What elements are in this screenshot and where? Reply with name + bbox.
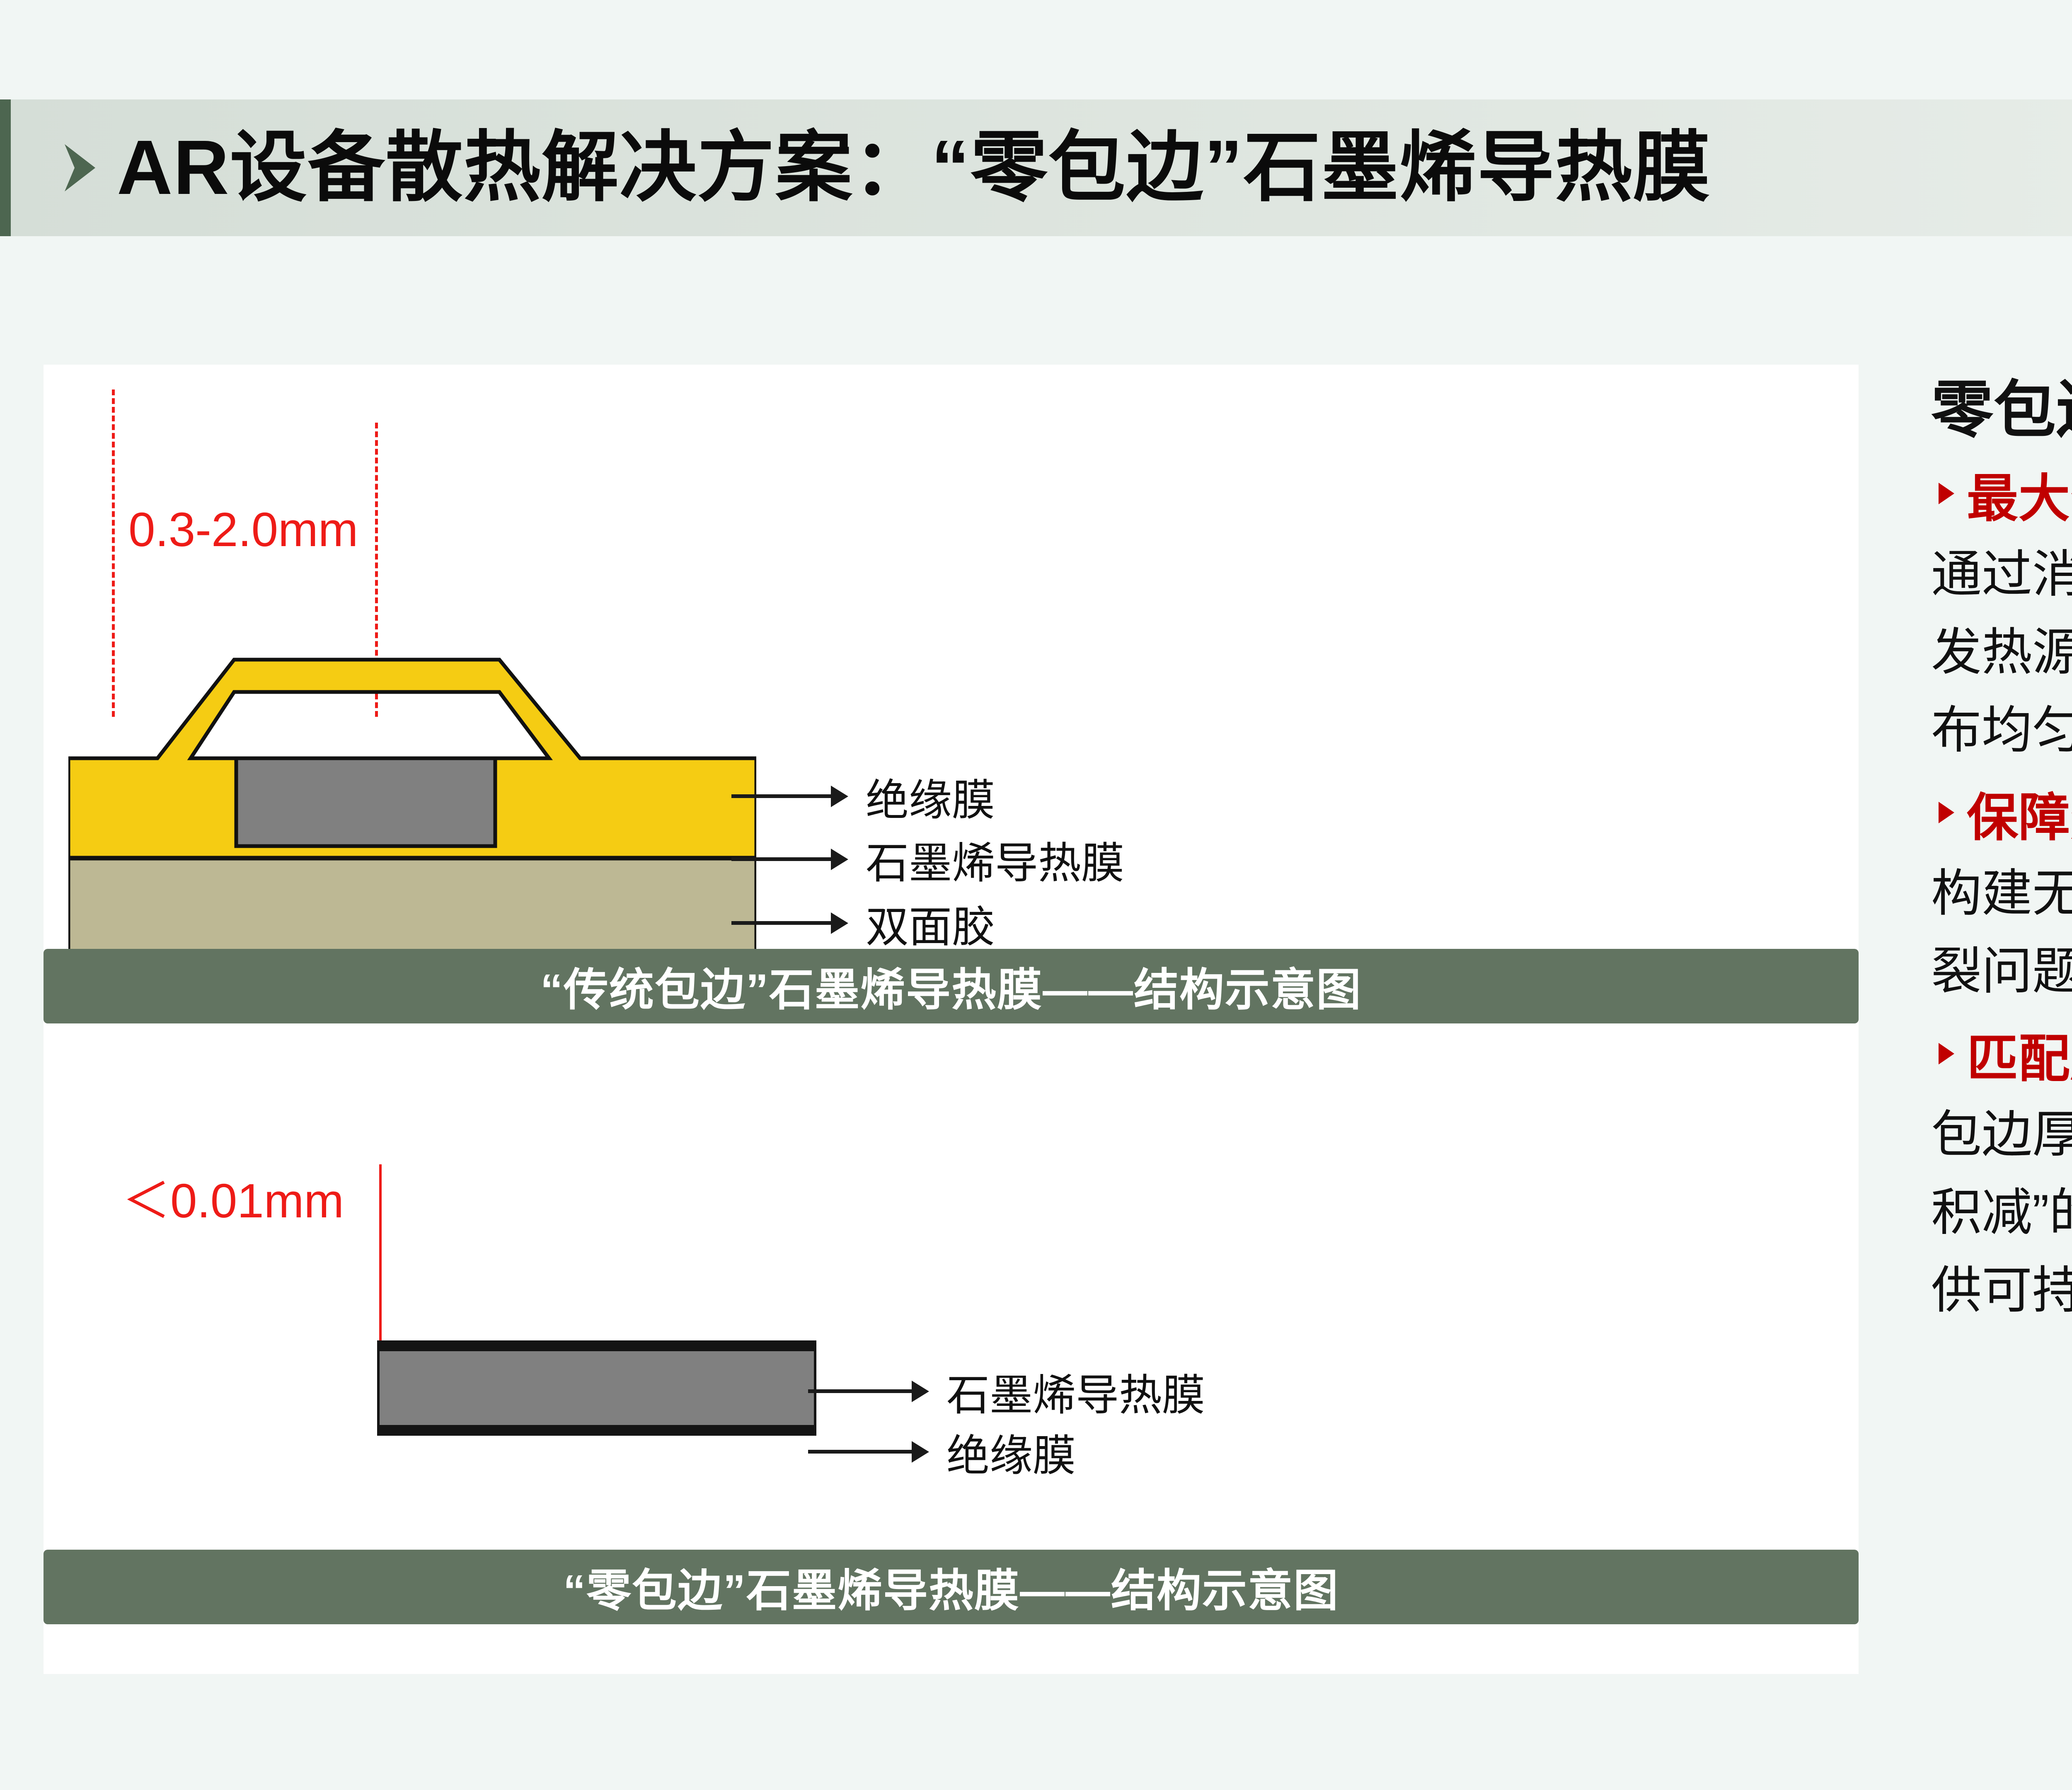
callout-adhesive: 双面胶 <box>731 892 995 954</box>
bullet-title: 匹配超薄化设计 <box>1967 1029 2072 1089</box>
callout-label: 石墨烯导热膜 <box>866 828 1124 890</box>
zero-edge-caption: “零包边”石墨烯导热膜——结构示意图 <box>44 1550 1859 1624</box>
callout-insulation-film: 绝缘膜 <box>808 1420 1076 1483</box>
diagram-card: 0.3-2.0mm 绝缘膜 石墨烯导热膜 双面胶 “传统包边”石墨烯导热膜——结… <box>44 365 1859 1674</box>
callout-insulation-film: 绝缘膜 <box>731 765 995 827</box>
callout-graphene-film: 石墨烯导热膜 <box>731 828 1124 890</box>
chevron-right-icon <box>62 143 98 193</box>
triangle-bullet-icon <box>1939 483 1954 504</box>
zero-edge-dimension-label: ＜0.01mm <box>122 1177 344 1225</box>
callout-graphene-film: 石墨烯导热膜 <box>808 1360 1205 1422</box>
innovation-panel: 零包边技术的革新性突破： 最大化热界面面积 通过消除包边对边缘空间的侵占，使石墨… <box>1931 375 2072 1348</box>
triangle-bullet-icon <box>1939 802 1954 823</box>
callout-label: 绝缘膜 <box>866 765 995 827</box>
bullet-body-1: 通过消除包边对边缘空间的侵占，使石墨烯膜完整覆盖发热源，热传导面积提升30%-5… <box>1931 536 2072 769</box>
panel-heading: 零包边技术的革新性突破： <box>1931 375 2072 445</box>
callout-label: 绝缘膜 <box>946 1420 1076 1483</box>
page-title: AR设备散热解决方案：“零包边”石墨烯导热膜 <box>117 129 1711 206</box>
bullet-item-1: 最大化热界面面积 <box>1931 469 2072 529</box>
bullet-body-2: 构建无间断三维导热网络，避免传统工艺导致的路径断裂问题，尤其适配AI眼镜曲面贴合… <box>1931 855 2072 1011</box>
triangle-bullet-icon <box>1939 1043 1954 1064</box>
zero-edge-cross-section <box>377 1340 816 1436</box>
callout-label: 石墨烯导热膜 <box>946 1360 1205 1422</box>
title-accent-bar <box>0 99 11 236</box>
bullet-body-3: 包边厚度控制至0.01mm级，契合AR设备“性能升、体积减”的演进趋势，为高功耗… <box>1931 1096 2072 1330</box>
bullet-item-2: 保障热通路完整性 <box>1931 788 2072 848</box>
callout-label: 双面胶 <box>866 892 995 954</box>
traditional-caption: “传统包边”石墨烯导热膜——结构示意图 <box>44 949 1859 1023</box>
slide-title-band: AR设备散热解决方案：“零包边”石墨烯导热膜 <box>0 99 2072 236</box>
traditional-cross-section <box>68 630 756 953</box>
bullet-title: 最大化热界面面积 <box>1967 469 2072 529</box>
bullet-title: 保障热通路完整性 <box>1967 788 2072 848</box>
bullet-item-3: 匹配超薄化设计 <box>1931 1029 2072 1089</box>
traditional-dimension-label: 0.3-2.0mm <box>128 506 358 554</box>
